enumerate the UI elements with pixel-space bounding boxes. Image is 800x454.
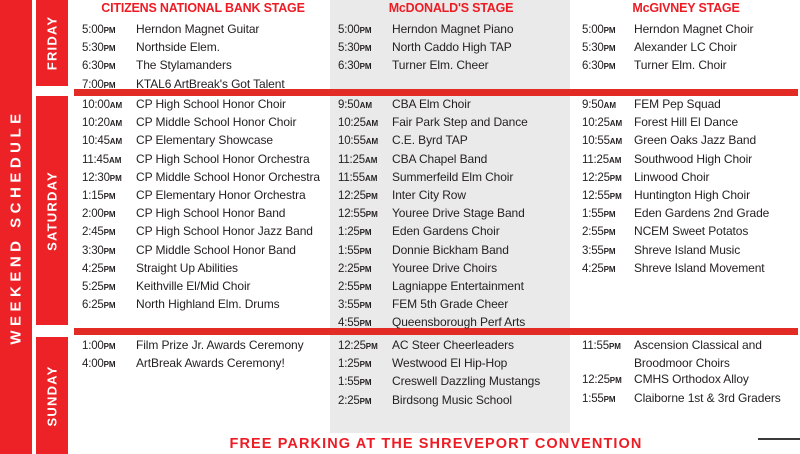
- schedule-title: Linwood Choir: [634, 169, 709, 185]
- schedule-time: 5:00PM: [338, 22, 392, 39]
- schedule-row: 10:45AMCP Elementary Showcase: [82, 132, 330, 150]
- schedule-row: 5:00PMHerndon Magnet Piano: [338, 21, 570, 39]
- schedule-meridiem: PM: [104, 210, 116, 219]
- schedule-time: 11:55PM: [582, 338, 634, 355]
- schedule-row: Broodmoor Choirs: [582, 355, 800, 371]
- schedule-title: CP High School Honor Band: [136, 205, 285, 221]
- schedule-row: 1:55PMDonnie Bickham Band: [338, 242, 570, 260]
- schedule-meridiem: PM: [360, 265, 372, 274]
- schedule-title: Fair Park Step and Dance: [392, 114, 528, 130]
- schedule-time: 2:25PM: [338, 393, 392, 410]
- schedule-row: 10:25AMForest Hill El Dance: [582, 114, 800, 132]
- schedule-time: 6:30PM: [338, 58, 392, 75]
- schedule-title: Shreve Island Movement: [634, 260, 765, 276]
- schedule-time: 5:30PM: [338, 40, 392, 57]
- schedule-title: Alexander LC Choir: [634, 39, 737, 55]
- sunday-mcdonalds-column: 12:25PMAC Steer Cheerleaders1:25PMWestwo…: [330, 337, 570, 433]
- bottom-right-rule: [758, 438, 800, 440]
- schedule-meridiem: PM: [360, 283, 372, 292]
- schedule-row: 1:55PMClaiborne 1st & 3rd Graders: [582, 390, 800, 408]
- schedule-time: 5:00PM: [582, 22, 634, 39]
- schedule-title: Turner Elm. Choir: [634, 57, 727, 73]
- schedule-meridiem: PM: [366, 210, 378, 219]
- schedule-title: CP High School Honor Jazz Band: [136, 223, 313, 239]
- schedule-time: 5:00PM: [82, 22, 136, 39]
- schedule-title: Creswell Dazzling Mustangs: [392, 373, 540, 389]
- schedule-title: CMHS Orthodox Alloy: [634, 371, 749, 387]
- schedule-title: C.E. Byrd TAP: [392, 132, 468, 148]
- schedule-time: 4:55PM: [338, 315, 392, 332]
- schedule-row: 11:55AMSummerfeild Elm Choir: [338, 169, 570, 187]
- schedule-meridiem: PM: [360, 360, 372, 369]
- schedule-meridiem: PM: [360, 397, 372, 406]
- schedule-meridiem: PM: [604, 210, 616, 219]
- schedule-row: 12:25PMLinwood Choir: [582, 169, 800, 187]
- schedule-row: 11:45AMCP High School Honor Orchestra: [82, 151, 330, 169]
- schedule-title: North Highland Elm. Drums: [136, 296, 280, 312]
- friday-citizens-rows: 5:00PMHerndon Magnet Guitar5:30PMNorthsi…: [72, 21, 330, 94]
- stage-title-mcgivney: McGIVNEY STAGE: [570, 0, 800, 15]
- schedule-meridiem: PM: [366, 342, 378, 351]
- day-separator-2: [36, 325, 68, 335]
- schedule-meridiem: PM: [610, 192, 622, 201]
- schedule-meridiem: PM: [604, 247, 616, 256]
- schedule-row: 4:25PMStraight Up Abilities: [82, 260, 330, 278]
- schedule-meridiem: AM: [604, 101, 616, 110]
- schedule-title: Birdsong Music School: [392, 392, 512, 408]
- schedule-meridiem: PM: [360, 301, 372, 310]
- schedule-row: 6:30PMTurner Elm. Cheer: [338, 57, 570, 75]
- saturday-citizens-rows: 10:00AMCP High School Honor Choir10:20AM…: [72, 96, 330, 314]
- schedule-meridiem: AM: [110, 119, 122, 128]
- schedule-time: 6:30PM: [82, 58, 136, 75]
- friday-mcgivney-rows: 5:00PMHerndon Magnet Choir5:30PMAlexande…: [570, 21, 800, 76]
- saturday-mcdonalds-column: 9:50AMCBA Elm Choir10:25AMFair Park Step…: [330, 96, 570, 325]
- saturday-mcgivney-column: 9:50AMFEM Pep Squad10:25AMForest Hill El…: [570, 96, 800, 325]
- schedule-title: ArtBreak Awards Ceremony!: [136, 355, 285, 371]
- schedule-title: NCEM Sweet Potatos: [634, 223, 748, 239]
- schedule-meridiem: PM: [110, 174, 122, 183]
- schedule-meridiem: PM: [360, 62, 372, 71]
- schedule-row: 11:55PMAscension Classical and: [582, 337, 800, 355]
- schedule-time: 6:30PM: [582, 58, 634, 75]
- schedule-meridiem: PM: [104, 228, 116, 237]
- schedule-row: 4:55PMQueensborough Perf Arts: [338, 314, 570, 332]
- schedule-meridiem: AM: [366, 137, 378, 146]
- schedule-row: 2:55PMLagniappe Entertainment: [338, 278, 570, 296]
- free-parking-text: FREE PARKING AT THE SHREVEPORT CONVENTIO…: [230, 436, 643, 452]
- schedule-title: CP Middle School Honor Choir: [136, 114, 296, 130]
- schedule-meridiem: PM: [360, 378, 372, 387]
- schedule-meridiem: PM: [104, 265, 116, 274]
- schedule-row: 3:55PMShreve Island Music: [582, 242, 800, 260]
- stage-title-mcdonalds: McDONALD'S STAGE: [330, 0, 570, 15]
- schedule-time: 12:25PM: [338, 338, 392, 355]
- schedule-meridiem: AM: [610, 137, 622, 146]
- sunday-mcgivney-rows: 11:55PMAscension Classical andBroodmoor …: [570, 337, 800, 408]
- weekend-schedule-rail: WEEKEND SCHEDULE: [0, 0, 32, 454]
- schedule-title: Huntington High Choir: [634, 187, 750, 203]
- schedule-row: 5:25PMKeithville El/Mid Choir: [82, 278, 330, 296]
- schedule-title: Eden Gardens 2nd Grade: [634, 205, 769, 221]
- schedule-time: 4:25PM: [582, 261, 634, 278]
- schedule-time: 10:20AM: [82, 115, 136, 132]
- schedule-title: FEM Pep Squad: [634, 96, 721, 112]
- schedule-meridiem: PM: [604, 395, 616, 404]
- schedule-title: Summerfeild Elm Choir: [392, 169, 513, 185]
- schedule-row: 5:00PMHerndon Magnet Guitar: [82, 21, 330, 39]
- schedule-meridiem: PM: [104, 81, 116, 90]
- stage-title-citizens: CITIZENS NATIONAL BANK STAGE: [72, 0, 330, 15]
- schedule-title: Straight Up Abilities: [136, 260, 238, 276]
- schedule-meridiem: PM: [610, 376, 622, 385]
- schedule-row: 2:55PMNCEM Sweet Potatos: [582, 223, 800, 241]
- schedule-row: 9:50AMFEM Pep Squad: [582, 96, 800, 114]
- schedule-row: 1:25PMWestwood El Hip-Hop: [338, 355, 570, 373]
- schedule-row: 7:00PMKTAL6 ArtBreak's Got Talent: [82, 76, 330, 94]
- schedule-row: 5:30PMAlexander LC Choir: [582, 39, 800, 57]
- schedule-time: 2:00PM: [82, 206, 136, 223]
- schedule-time: 10:25AM: [582, 115, 634, 132]
- section-saturday: 10:00AMCP High School Honor Choir10:20AM…: [72, 96, 800, 325]
- schedule-row: 9:50AMCBA Elm Choir: [338, 96, 570, 114]
- schedule-title: Ascension Classical and: [634, 337, 762, 353]
- saturday-citizens-column: 10:00AMCP High School Honor Choir10:20AM…: [72, 96, 330, 325]
- schedule-time: 10:55AM: [338, 133, 392, 150]
- schedule-row: 1:00PMFilm Prize Jr. Awards Ceremony: [82, 337, 330, 355]
- schedule-time: 12:25PM: [582, 170, 634, 187]
- schedule-meridiem: AM: [360, 101, 372, 110]
- schedule-row: 4:00PMArtBreak Awards Ceremony!: [82, 355, 330, 373]
- schedule-time: 5:30PM: [82, 40, 136, 57]
- schedule-title: Eden Gardens Choir: [392, 223, 500, 239]
- schedule-time: 2:55PM: [338, 279, 392, 296]
- schedule-row: 5:30PMNorth Caddo High TAP: [338, 39, 570, 57]
- schedule-meridiem: PM: [604, 228, 616, 237]
- schedule-title: CP Elementary Honor Orchestra: [136, 187, 306, 203]
- schedule-row: 6:30PMThe Stylamanders: [82, 57, 330, 75]
- schedule-title: CP Middle School Honor Band: [136, 242, 296, 258]
- schedule-row: 10:25AMFair Park Step and Dance: [338, 114, 570, 132]
- schedule-meridiem: PM: [104, 342, 116, 351]
- schedule-row: 1:55PMEden Gardens 2nd Grade: [582, 205, 800, 223]
- schedule-title: CP Elementary Showcase: [136, 132, 273, 148]
- schedule-row: 10:20AMCP Middle School Honor Choir: [82, 114, 330, 132]
- schedule-meridiem: AM: [609, 156, 621, 165]
- schedule-title: Youree Drive Stage Band: [392, 205, 525, 221]
- friday-mcdonalds-rows: 5:00PMHerndon Magnet Piano5:30PMNorth Ca…: [330, 21, 570, 76]
- schedule-row: 10:00AMCP High School Honor Choir: [82, 96, 330, 114]
- schedule-row: 12:25PMInter City Row: [338, 187, 570, 205]
- friday-mcgivney-column: McGIVNEY STAGE 5:00PMHerndon Magnet Choi…: [570, 0, 800, 86]
- schedule-title: Claiborne 1st & 3rd Graders: [634, 390, 781, 406]
- day-block-saturday: SATURDAY: [36, 96, 68, 325]
- day-block-sunday: SUNDAY: [36, 337, 68, 454]
- schedule-time: 2:45PM: [82, 224, 136, 241]
- schedule-row: 11:25AMCBA Chapel Band: [338, 151, 570, 169]
- schedule-title: Film Prize Jr. Awards Ceremony: [136, 337, 304, 353]
- schedule-row: 1:15PMCP Elementary Honor Orchestra: [82, 187, 330, 205]
- schedule-title: Herndon Magnet Guitar: [136, 21, 259, 37]
- schedule-time: 4:25PM: [82, 261, 136, 278]
- schedule-title: CP High School Honor Orchestra: [136, 151, 310, 167]
- weekend-schedule-page: WEEKEND SCHEDULE FRIDAY SATURDAY SUNDAY …: [0, 0, 800, 454]
- schedule-title: Keithville El/Mid Choir: [136, 278, 250, 294]
- schedule-meridiem: PM: [366, 192, 378, 201]
- schedule-meridiem: AM: [109, 156, 121, 165]
- section-sunday: 1:00PMFilm Prize Jr. Awards Ceremony4:00…: [72, 337, 800, 433]
- schedule-title: CBA Elm Choir: [392, 96, 471, 112]
- schedule-meridiem: PM: [104, 301, 116, 310]
- schedule-title: CBA Chapel Band: [392, 151, 487, 167]
- schedule-meridiem: PM: [609, 342, 621, 351]
- schedule-row: 12:25PMCMHS Orthodox Alloy: [582, 371, 800, 389]
- schedule-row: 10:55AMC.E. Byrd TAP: [338, 132, 570, 150]
- schedule-time: 12:55PM: [582, 188, 634, 205]
- sunday-mcdonalds-rows: 12:25PMAC Steer Cheerleaders1:25PMWestwo…: [330, 337, 570, 410]
- schedule-title: Inter City Row: [392, 187, 466, 203]
- schedule-row: 5:30PMNorthside Elem.: [82, 39, 330, 57]
- schedule-time: 1:55PM: [582, 391, 634, 408]
- schedule-title: CP High School Honor Choir: [136, 96, 286, 112]
- schedule-title: Shreve Island Music: [634, 242, 740, 258]
- schedule-time: 3:55PM: [338, 297, 392, 314]
- schedule-meridiem: PM: [104, 192, 116, 201]
- schedule-row: 3:30PMCP Middle School Honor Band: [82, 242, 330, 260]
- schedule-row: 3:55PMFEM 5th Grade Cheer: [338, 296, 570, 314]
- schedule-title: Turner Elm. Cheer: [392, 57, 489, 73]
- schedule-title: Donnie Bickham Band: [392, 242, 509, 258]
- schedule-meridiem: PM: [104, 360, 116, 369]
- schedule-row: 12:55PMYouree Drive Stage Band: [338, 205, 570, 223]
- schedule-time: 4:00PM: [82, 356, 136, 373]
- schedule-title: North Caddo High TAP: [392, 39, 512, 55]
- schedule-meridiem: AM: [610, 119, 622, 128]
- schedule-meridiem: AM: [110, 137, 122, 146]
- schedule-time: 11:25AM: [582, 152, 634, 169]
- schedule-title: Herndon Magnet Piano: [392, 21, 513, 37]
- day-label-sunday: SUNDAY: [45, 365, 60, 426]
- schedule-time: 6:25PM: [82, 297, 136, 314]
- schedule-row: 1:25PMEden Gardens Choir: [338, 223, 570, 241]
- schedule-title: Green Oaks Jazz Band: [634, 132, 756, 148]
- schedule-row: 2:25PMBirdsong Music School: [338, 392, 570, 410]
- schedule-meridiem: AM: [365, 174, 377, 183]
- schedule-row: 5:00PMHerndon Magnet Choir: [582, 21, 800, 39]
- schedule-meridiem: PM: [104, 26, 116, 35]
- schedule-title: AC Steer Cheerleaders: [392, 337, 514, 353]
- schedule-time: 12:25PM: [582, 372, 634, 389]
- schedule-time: 12:25PM: [338, 188, 392, 205]
- schedule-row: 6:25PMNorth Highland Elm. Drums: [82, 296, 330, 314]
- day-label-friday: FRIDAY: [45, 16, 60, 70]
- schedule-meridiem: AM: [365, 156, 377, 165]
- schedule-row: 2:00PMCP High School Honor Band: [82, 205, 330, 223]
- schedule-time: 2:25PM: [338, 261, 392, 278]
- schedule-time: 1:25PM: [338, 224, 392, 241]
- schedule-title: The Stylamanders: [136, 57, 232, 73]
- schedule-time: 11:55AM: [338, 170, 392, 187]
- day-label-saturday: SATURDAY: [45, 171, 60, 251]
- schedule-meridiem: PM: [360, 228, 372, 237]
- schedule-meridiem: PM: [104, 44, 116, 53]
- weekend-schedule-label: WEEKEND SCHEDULE: [8, 109, 25, 344]
- schedule-title: Herndon Magnet Choir: [634, 21, 753, 37]
- schedule-meridiem: PM: [604, 265, 616, 274]
- schedule-title: Westwood El Hip-Hop: [392, 355, 507, 371]
- schedule-title: FEM 5th Grade Cheer: [392, 296, 508, 312]
- schedule-time: 1:15PM: [82, 188, 136, 205]
- schedule-meridiem: AM: [366, 119, 378, 128]
- schedule-meridiem: PM: [604, 62, 616, 71]
- schedule-meridiem: AM: [110, 101, 122, 110]
- sunday-citizens-rows: 1:00PMFilm Prize Jr. Awards Ceremony4:00…: [72, 337, 330, 373]
- day-block-friday: FRIDAY: [36, 0, 68, 86]
- schedule-time: 10:25AM: [338, 115, 392, 132]
- schedule-time: 5:25PM: [82, 279, 136, 296]
- schedule-time: 1:55PM: [338, 374, 392, 391]
- schedule-time: 10:45AM: [82, 133, 136, 150]
- schedule-time: 11:45AM: [82, 152, 136, 169]
- schedule-row: 4:25PMShreve Island Movement: [582, 260, 800, 278]
- schedule-time: 10:55AM: [582, 133, 634, 150]
- schedule-row: 2:25PMYouree Drive Choirs: [338, 260, 570, 278]
- schedule-title: CP Middle School Honor Orchestra: [136, 169, 320, 185]
- schedule-meridiem: PM: [610, 174, 622, 183]
- schedule-time: 2:55PM: [582, 224, 634, 241]
- schedule-time: 11:25AM: [338, 152, 392, 169]
- schedule-meridiem: PM: [360, 26, 372, 35]
- schedule-time: 5:30PM: [582, 40, 634, 57]
- schedule-time: 9:50AM: [338, 97, 392, 114]
- sunday-citizens-column: 1:00PMFilm Prize Jr. Awards Ceremony4:00…: [72, 337, 330, 433]
- schedule-title: Northside Elem.: [136, 39, 220, 55]
- schedule-time: 1:25PM: [338, 356, 392, 373]
- schedule-meridiem: PM: [604, 44, 616, 53]
- schedule-time: 3:55PM: [582, 243, 634, 260]
- schedule-meridiem: PM: [360, 247, 372, 256]
- schedule-meridiem: PM: [104, 247, 116, 256]
- footer-banner: FREE PARKING AT THE SHREVEPORT CONVENTIO…: [72, 433, 800, 454]
- saturday-mcgivney-rows: 9:50AMFEM Pep Squad10:25AMForest Hill El…: [570, 96, 800, 278]
- schedule-title: Forest Hill El Dance: [634, 114, 738, 130]
- schedule-row: 12:55PMHuntington High Choir: [582, 187, 800, 205]
- schedule-title: KTAL6 ArtBreak's Got Talent: [136, 76, 285, 92]
- schedule-time: 7:00PM: [82, 77, 136, 94]
- schedule-title: Queensborough Perf Arts: [392, 314, 525, 330]
- schedule-row: 1:55PMCreswell Dazzling Mustangs: [338, 373, 570, 391]
- friday-citizens-column: CITIZENS NATIONAL BANK STAGE 5:00PMHernd…: [72, 0, 330, 86]
- schedule-title: Lagniappe Entertainment: [392, 278, 524, 294]
- day-rail: FRIDAY SATURDAY SUNDAY: [36, 0, 68, 454]
- schedule-row: 2:45PMCP High School Honor Jazz Band: [82, 223, 330, 241]
- saturday-mcdonalds-rows: 9:50AMCBA Elm Choir10:25AMFair Park Step…: [330, 96, 570, 333]
- schedule-row: 10:55AMGreen Oaks Jazz Band: [582, 132, 800, 150]
- schedule-time: 1:55PM: [582, 206, 634, 223]
- schedule-time: 12:55PM: [338, 206, 392, 223]
- schedule-meridiem: PM: [360, 319, 372, 328]
- schedule-time: 9:50AM: [582, 97, 634, 114]
- schedule-time: 10:00AM: [82, 97, 136, 114]
- schedule-title: Youree Drive Choirs: [392, 260, 497, 276]
- friday-mcdonalds-column: McDONALD'S STAGE 5:00PMHerndon Magnet Pi…: [330, 0, 570, 86]
- schedule-title: Broodmoor Choirs: [634, 355, 730, 371]
- schedule-time: 1:55PM: [338, 243, 392, 260]
- schedule-meridiem: PM: [360, 44, 372, 53]
- schedule-meridiem: PM: [104, 62, 116, 71]
- section-friday: CITIZENS NATIONAL BANK STAGE 5:00PMHernd…: [72, 0, 800, 86]
- schedule-row: 12:25PMAC Steer Cheerleaders: [338, 337, 570, 355]
- schedule-row: 12:30PMCP Middle School Honor Orchestra: [82, 169, 330, 187]
- schedule-meridiem: PM: [104, 283, 116, 292]
- schedule-time: 12:30PM: [82, 170, 136, 187]
- schedule-row: 6:30PMTurner Elm. Choir: [582, 57, 800, 75]
- schedule-title: Southwood High Choir: [634, 151, 752, 167]
- schedule-row: 11:25AMSouthwood High Choir: [582, 151, 800, 169]
- schedule-meridiem: PM: [604, 26, 616, 35]
- schedule-time: 1:00PM: [82, 338, 136, 355]
- schedule-content: CITIZENS NATIONAL BANK STAGE 5:00PMHernd…: [72, 0, 800, 454]
- schedule-time: 3:30PM: [82, 243, 136, 260]
- sunday-mcgivney-column: 11:55PMAscension Classical andBroodmoor …: [570, 337, 800, 433]
- day-separator-1: [36, 86, 68, 96]
